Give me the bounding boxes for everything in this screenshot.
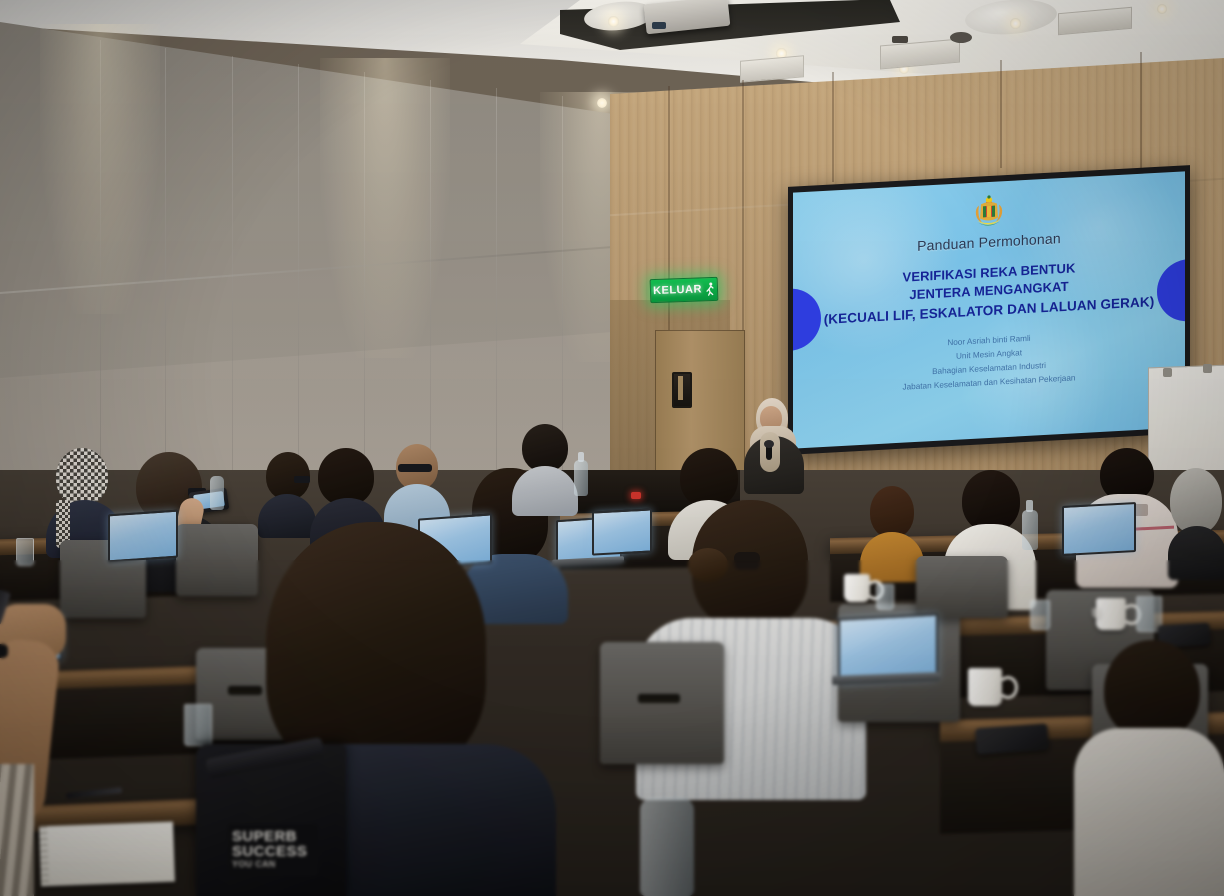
attendee-hair xyxy=(680,448,738,508)
water-bottle[interactable] xyxy=(210,476,224,510)
attendee-hair xyxy=(870,486,914,538)
presenter-at-front xyxy=(742,398,806,494)
bottle-neck xyxy=(1026,500,1033,512)
eyeglasses-icon xyxy=(294,476,310,483)
backpack-label-line-3: YOU CAN xyxy=(232,859,318,871)
chair[interactable] xyxy=(916,556,1008,618)
projection-screen: Panduan Permohonan VERIFIKASI REKA BENTU… xyxy=(793,171,1185,448)
hair-tie-icon xyxy=(734,552,760,570)
water-glass[interactable] xyxy=(16,538,34,566)
attendee-shirt xyxy=(1074,728,1224,896)
ceiling-smoke-detector-icon xyxy=(950,32,972,43)
door-vision-glass xyxy=(678,376,683,400)
wood-panel-seam xyxy=(742,80,744,360)
ceiling-downlight xyxy=(1157,4,1167,14)
slide-content: Panduan Permohonan VERIFIKASI REKA BENTU… xyxy=(793,171,1185,448)
attendee-gray-hijab xyxy=(1168,468,1224,580)
attendee-sleeve xyxy=(0,764,34,896)
backpack-label-line-1: SUPERB xyxy=(232,829,318,844)
attendee-orange-blouse xyxy=(860,486,924,582)
chair-handle[interactable] xyxy=(638,694,680,703)
laptop-screen[interactable] xyxy=(592,508,652,555)
slide-kicker: Panduan Permohonan xyxy=(917,230,1061,254)
water-bottle[interactable] xyxy=(1022,510,1038,550)
water-bottle[interactable] xyxy=(574,460,588,496)
exit-sign-label: KELUAR xyxy=(653,284,702,297)
running-man-icon xyxy=(705,282,715,296)
bottle-neck xyxy=(578,452,584,462)
slide-presenter-block: Noor Asriah binti Ramli Unit Mesin Angka… xyxy=(903,329,1076,395)
conference-room-photo: KELUAR xyxy=(0,0,1224,896)
water-glass[interactable] xyxy=(1030,600,1050,630)
flipchart-clip xyxy=(1163,368,1172,377)
gray-hijab xyxy=(1170,468,1222,534)
flipchart-clip xyxy=(1203,364,1212,373)
attendee-back-row-c xyxy=(512,424,578,516)
backpack-label-line-2: SUCCESS xyxy=(232,844,318,859)
mug-handle xyxy=(998,676,1018,699)
malaysian-coat-of-arms-icon xyxy=(967,193,1011,229)
wood-panel-seam xyxy=(1000,60,1002,168)
attendee-foreground-right xyxy=(1074,640,1224,896)
wood-panel-seam xyxy=(832,72,834,182)
attendee-foreground-notetaker xyxy=(0,604,106,896)
chair[interactable] xyxy=(600,642,724,764)
attendee-hair xyxy=(962,470,1020,532)
backpack-label: SUPERB SUCCESS YOU CAN xyxy=(228,824,318,876)
laptop-screen[interactable] xyxy=(108,510,178,563)
wristwatch xyxy=(0,644,8,658)
ceiling-downlight xyxy=(597,98,607,108)
attendee-hair xyxy=(266,522,486,774)
water-bottle-foreground[interactable] xyxy=(640,798,694,896)
attendee-hair xyxy=(1104,640,1200,740)
phone-on-table[interactable] xyxy=(975,724,1049,755)
attendee-torso xyxy=(1168,526,1224,580)
water-glass[interactable] xyxy=(184,704,212,746)
projector-lens-icon xyxy=(652,22,666,29)
laptop-screen[interactable] xyxy=(1062,502,1136,556)
coffee-mug[interactable] xyxy=(1092,608,1100,618)
ceiling-sensor-icon xyxy=(892,36,908,43)
attendee-gray-shirt xyxy=(512,466,578,516)
microphone-head-icon xyxy=(764,440,774,448)
emergency-exit-sign: KELUAR xyxy=(650,277,719,303)
checkered-hijab xyxy=(56,448,108,506)
ceiling-downlight xyxy=(1010,18,1021,29)
hair-bun xyxy=(688,548,728,582)
attendee-hair xyxy=(522,424,568,472)
coffee-mug[interactable] xyxy=(968,668,1002,706)
lectern-indicator-light xyxy=(631,492,641,499)
water-glass[interactable] xyxy=(876,584,894,610)
ceiling-downlight xyxy=(608,16,619,27)
eyeglasses-icon xyxy=(398,464,432,472)
